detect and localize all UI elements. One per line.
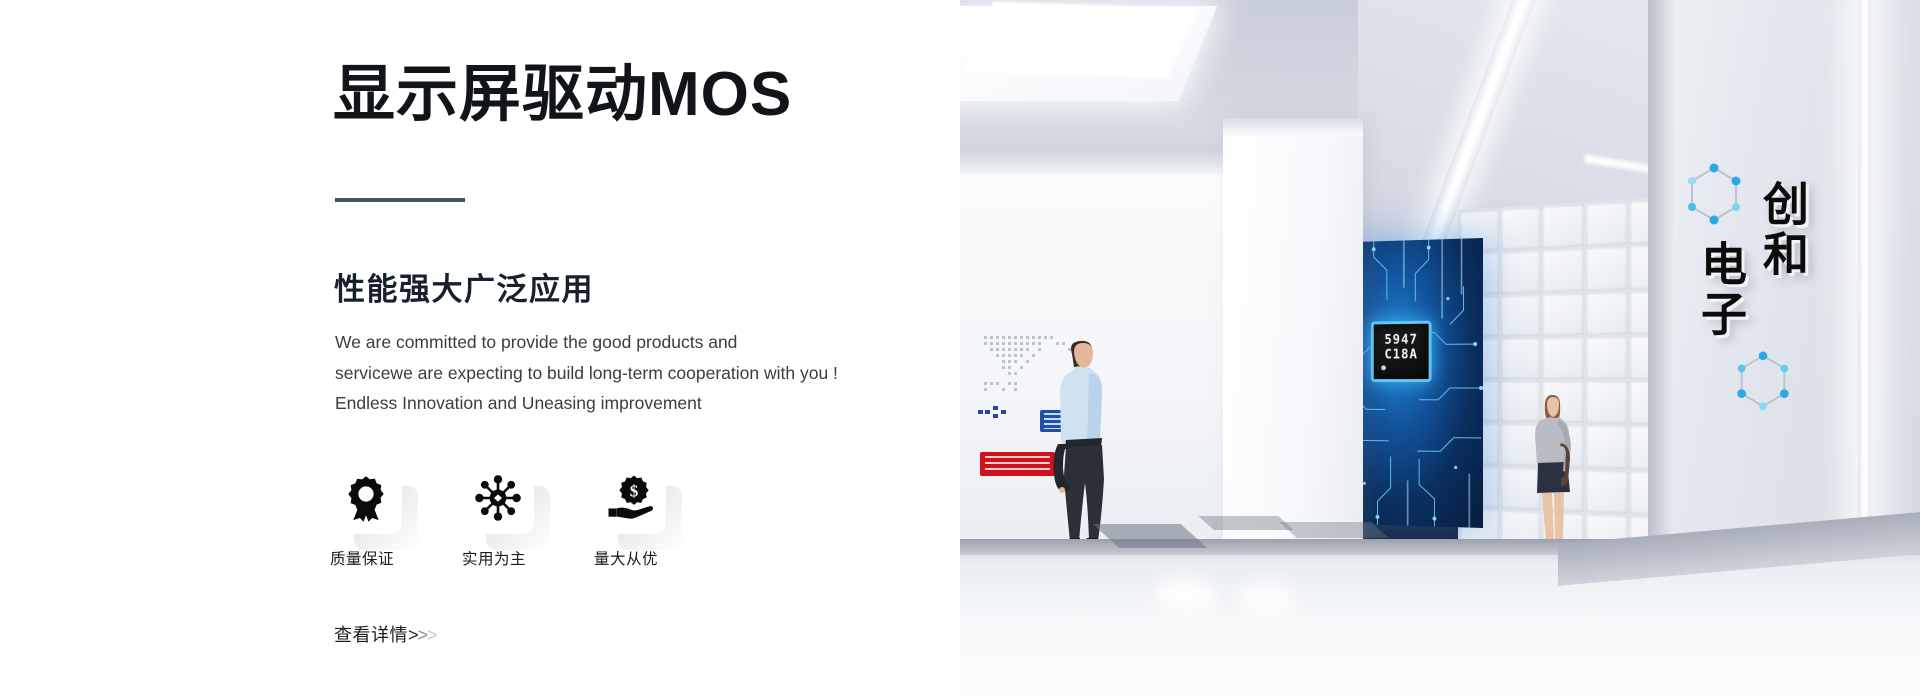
person-male <box>1048 340 1108 570</box>
chip-label: 5947 C18A <box>1371 321 1432 382</box>
chip-pin1-dot-icon <box>1381 365 1386 370</box>
hand-coin-icon: $ <box>606 474 654 522</box>
skylight-glow <box>962 1 1198 78</box>
feature-item-practical[interactable]: 实用为主 <box>462 462 534 569</box>
wall-sign-column-left: 电子 <box>1698 240 1744 340</box>
chevron-right-icon-1: > <box>408 625 418 645</box>
chip-line-1: 5947 <box>1384 333 1417 348</box>
center-column-cap <box>1223 118 1363 136</box>
left-wall-brand-icon <box>978 402 1024 422</box>
feature-item-bulk-price[interactable]: $ 量大从优 <box>594 462 666 569</box>
wall-plaque-red <box>980 452 1055 476</box>
light-reflection <box>1154 578 1216 612</box>
view-details-link[interactable]: 查看详情>>> <box>334 621 437 647</box>
description-line-1: We are committed to provide the good pro… <box>335 327 895 358</box>
description-line-2: servicewe are expecting to build long-te… <box>335 358 895 389</box>
svg-text:$: $ <box>630 482 639 501</box>
light-reflection <box>1238 582 1296 614</box>
description-line-3: Endless Innovation and Uneasing improvem… <box>335 388 895 419</box>
feature-label: 质量保证 <box>330 547 402 569</box>
award-ribbon-icon <box>342 474 390 522</box>
feature-label: 实用为主 <box>462 547 534 569</box>
view-details-label: 查看详情 <box>334 625 408 645</box>
chevron-right-icon-2: > <box>418 625 428 645</box>
feature-icon-tile <box>462 462 534 534</box>
hero-banner: 5947 C18A 创和 电子 <box>0 0 1920 700</box>
chip-line-2: C18A <box>1384 348 1417 363</box>
company-wall-sign: 创和 电子 <box>1684 168 1824 428</box>
left-wall-cornice <box>958 150 1223 174</box>
wall-sign-column-right: 创和 <box>1760 180 1806 280</box>
feature-icon-tile <box>330 462 402 534</box>
floor-inlay <box>1279 522 1389 538</box>
subtitle: 性能强大广泛应用 <box>334 264 594 309</box>
chevron-right-icon-3: > <box>427 625 437 645</box>
feature-icon-tile: $ <box>594 462 666 534</box>
molecule-hex-icon <box>1732 350 1794 414</box>
showroom-photo: 5947 C18A 创和 电子 <box>958 0 1920 700</box>
person-female <box>1530 395 1572 555</box>
title-divider <box>335 198 465 202</box>
feature-list: 质量保证 <box>330 462 666 569</box>
text-pane: 显示屏驱动MOS 性能强大广泛应用 We are committed to pr… <box>0 0 960 700</box>
description: We are committed to provide the good pro… <box>335 327 895 419</box>
feature-label: 量大从优 <box>594 547 666 569</box>
page-title: 显示屏驱动MOS <box>333 60 792 129</box>
network-hub-icon <box>474 474 522 522</box>
feature-item-quality[interactable]: 质量保证 <box>330 462 402 569</box>
molecule-hex-icon <box>1682 162 1746 228</box>
